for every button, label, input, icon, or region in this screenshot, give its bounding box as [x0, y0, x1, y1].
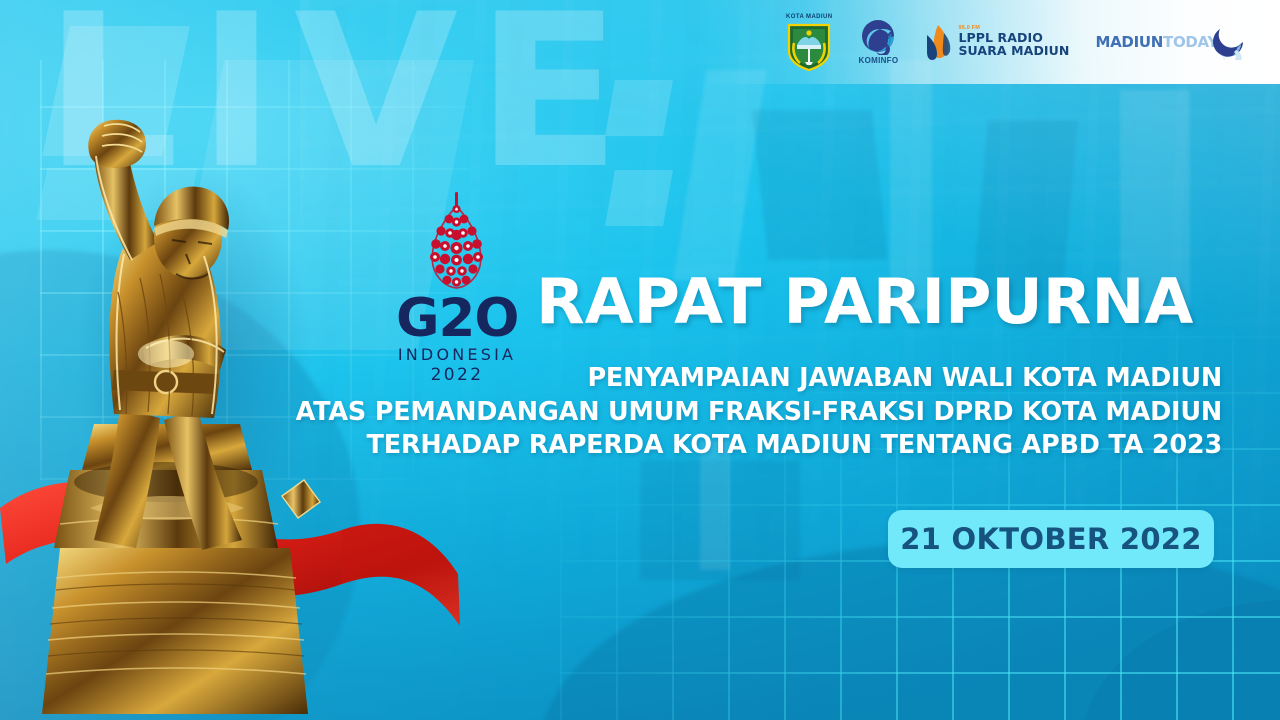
logo-kominfo: KOMINFO	[858, 19, 898, 65]
g20-wordmark: G2O	[396, 294, 518, 344]
madiuntoday-swirl-icon	[1210, 24, 1246, 60]
g20-gunungan-batik-icon	[409, 192, 505, 290]
logo-lppl-radio: 95.0 FM LPPL RADIO SUARA MADIUN	[924, 23, 1069, 61]
kominfo-caption: KOMINFO	[859, 56, 899, 65]
kota-madiun-caption: KOTA MADIUN	[786, 14, 832, 20]
subtitle-block: PENYAMPAIAN JAWABAN WALI KOTA MADIUN ATA…	[0, 362, 1222, 463]
page-title: RAPAT PARIPURNA	[536, 271, 1193, 333]
subtitle-line-1: PENYAMPAIAN JAWABAN WALI KOTA MADIUN	[0, 362, 1222, 396]
subtitle-line-2: ATAS PEMANDANGAN UMUM FRAKSI-FRAKSI DPRD…	[0, 396, 1222, 430]
broadcast-graphic: LIVE	[0, 0, 1280, 720]
subtitle-line-3: TERHADAP RAPERDA KOTA MADIUN TENTANG APB…	[0, 429, 1222, 463]
kota-madiun-emblem-icon	[786, 21, 832, 71]
radio-name-line2: SUARA MADIUN	[958, 45, 1069, 58]
logo-kota-madiun: KOTA MADIUN	[786, 14, 832, 71]
kominfo-wave-icon	[858, 19, 898, 55]
partner-logo-banner: KOTA MADIUN KOMINFO	[700, 0, 1280, 84]
lppl-radio-mark-icon	[924, 23, 954, 61]
event-date-badge: 21 OKTOBER 2022	[888, 510, 1214, 568]
event-date-text: 21 OKTOBER 2022	[900, 522, 1202, 556]
g20-logo: G2O INDONESIA 2022	[396, 192, 518, 385]
madiuntoday-part1: MADIUN	[1096, 33, 1164, 51]
logo-madiuntoday: MADIUNTODAY	[1096, 24, 1247, 60]
